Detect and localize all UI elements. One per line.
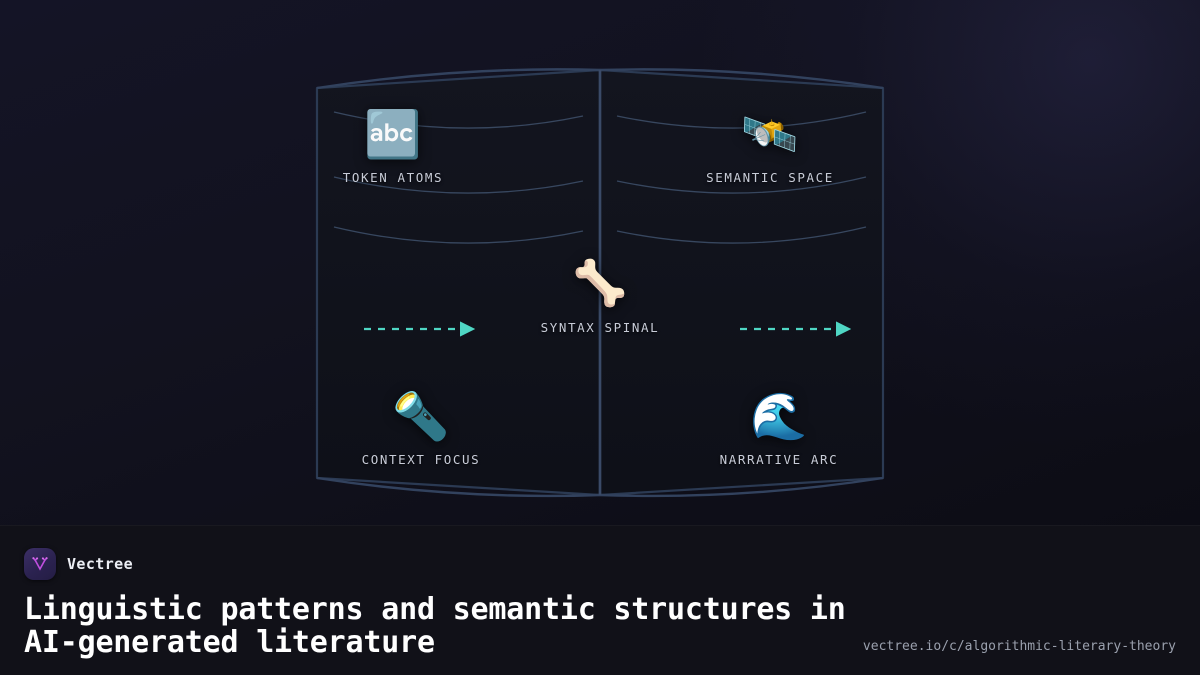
abc-icon: 🔤 (283, 108, 503, 160)
node-label-narrative-arc: NARRATIVE ARC (669, 452, 889, 467)
brand-name: Vectree (67, 555, 133, 573)
page-title: Linguistic patterns and semantic structu… (24, 593, 849, 659)
title-row: Linguistic patterns and semantic structu… (24, 593, 1176, 659)
node-label-semantic-space: SEMANTIC SPACE (660, 170, 880, 185)
screenshot-root: 🔤 TOKEN ATOMS 🛰️ SEMANTIC SPACE 🦴 SYNTAX… (0, 0, 1200, 675)
vectree-logo-icon (24, 548, 56, 580)
node-context-focus[interactable]: 🔦 CONTEXT FOCUS (311, 390, 531, 467)
flashlight-icon: 🔦 (311, 390, 531, 442)
node-label-context-focus: CONTEXT FOCUS (311, 452, 531, 467)
wave-icon: 🌊 (669, 390, 889, 442)
brand[interactable]: Vectree (24, 548, 1176, 580)
node-syntax-spinal[interactable]: 🦴 SYNTAX SPINAL (490, 258, 710, 335)
satellite-icon: 🛰️ (660, 108, 880, 160)
book-diagram: 🔤 TOKEN ATOMS 🛰️ SEMANTIC SPACE 🦴 SYNTAX… (0, 0, 1200, 525)
node-narrative-arc[interactable]: 🌊 NARRATIVE ARC (669, 390, 889, 467)
node-token-atoms[interactable]: 🔤 TOKEN ATOMS (283, 108, 503, 185)
node-label-syntax-spinal: SYNTAX SPINAL (490, 320, 710, 335)
footer-bar: Vectree Linguistic patterns and semantic… (0, 525, 1200, 675)
node-semantic-space[interactable]: 🛰️ SEMANTIC SPACE (660, 108, 880, 185)
bone-icon: 🦴 (490, 258, 710, 310)
page-url[interactable]: vectree.io/c/algorithmic-literary-theory (863, 639, 1176, 659)
node-label-token-atoms: TOKEN ATOMS (283, 170, 503, 185)
